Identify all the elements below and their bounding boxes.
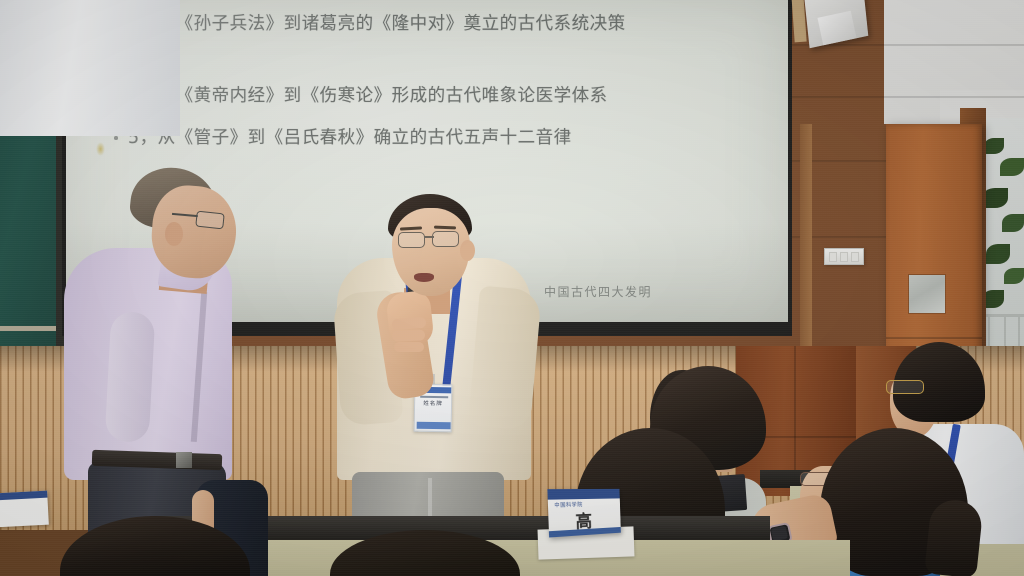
foliage-leaf-icon: [1002, 214, 1024, 232]
light-switch-button[interactable]: [851, 252, 859, 262]
professor-ear: [165, 222, 183, 246]
badge-name: 姓名牌: [415, 401, 451, 409]
professor-glasses-icon: [195, 211, 225, 230]
slide-content: ，从《周易》到老子创立的古代辩证哲学 3，从《孙子兵法》到诸葛亮的《隆中对》奠立…: [128, 0, 728, 154]
light-switch[interactable]: [824, 248, 864, 265]
wall-plank-seam: [780, 96, 1024, 98]
badge-footer-band: [417, 422, 451, 430]
speaker-finger: [392, 317, 427, 330]
bullet-dot-icon: [114, 136, 118, 140]
slide-bullet-3-text: 3，从《孙子兵法》到诸葛亮的《隆中对》奠立的古代系统决策: [128, 14, 626, 34]
professor-sleeve: [105, 311, 156, 443]
speaker-ear: [460, 240, 475, 261]
audience-man-white-shirt: [0, 0, 180, 136]
audience-white-shirt: [0, 0, 180, 136]
light-switch-button[interactable]: [840, 252, 848, 262]
light-switch-button[interactable]: [829, 252, 837, 262]
slide-bullet-4-text: 4，从《黄帝内经》到《伤寒论》形成的古代唯象论医学体系: [128, 86, 608, 106]
slide-spacer: [128, 70, 728, 80]
foliage-leaf-icon: [1000, 158, 1024, 176]
door-rail: [886, 337, 982, 339]
belt-buckle-icon: [176, 452, 192, 468]
name-tent-card: 中国科学院 高: [547, 489, 621, 538]
door-vision-panel: [908, 274, 946, 314]
slide-spacer: [128, 112, 728, 122]
slide-bullet-5: 5，从《管子》到《吕氏春秋》确立的古代五声十二音律: [128, 122, 728, 154]
chalk-rail: [0, 326, 56, 331]
slide-bullet-3: 3，从《孙子兵法》到诸葛亮的《隆中对》奠立的古代系统决策: [128, 8, 728, 40]
speaker-glasses-icon: [398, 232, 425, 248]
foliage-leaf-icon: [1004, 268, 1024, 284]
name-card-header-band: [547, 489, 619, 500]
speaker-mouth: [414, 273, 434, 282]
badge-text-line: [420, 396, 448, 398]
slide-bullet-2: ，从《周易》到老子创立的古代辩证哲学: [128, 0, 728, 8]
audience-glasses-icon: [886, 380, 924, 394]
speaker-finger: [394, 342, 424, 352]
foliage-leaf-icon: [984, 138, 1004, 154]
slide-bullet-4: 4，从《黄帝内经》到《伤寒论》形成的古代唯象论医学体系: [128, 80, 728, 112]
slide-bullet-3-continuation: 科学: [128, 40, 728, 70]
glasses-bridge-icon: [424, 236, 434, 238]
speaker-glasses-icon: [432, 231, 459, 247]
foliage-leaf-icon: [986, 244, 1010, 264]
lecture-hall-scene: ，从《周易》到老子创立的古代辩证哲学 3，从《孙子兵法》到诸葛亮的《隆中对》奠立…: [0, 0, 1024, 576]
name-card-header-band: [0, 491, 47, 501]
slide-bullet-5-text: 5，从《管子》到《吕氏春秋》确立的古代五声十二音律: [128, 128, 572, 148]
slide-watermark: 中国古代四大发明: [544, 283, 652, 300]
speaker-sleeve-right: [468, 286, 542, 431]
speaker-finger: [392, 329, 425, 341]
screen-smudge: [96, 142, 105, 156]
name-tent-card-secondary: [0, 491, 49, 528]
